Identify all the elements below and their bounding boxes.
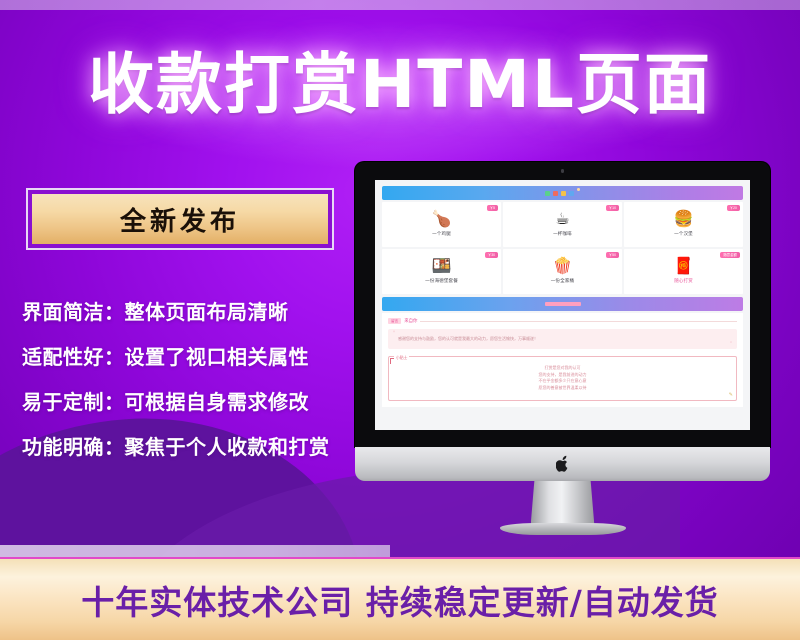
note-label: 小贴士: [394, 356, 409, 361]
sparkle-icon: [577, 188, 580, 191]
item-card[interactable]: ￥50 🍿 一份全家桶: [503, 249, 622, 294]
header-dot-red: [553, 191, 558, 196]
feature-sep: ：: [104, 431, 125, 460]
bento-icon: 🍱: [432, 259, 452, 275]
feature-value: 可根据自身需求修改: [125, 386, 310, 415]
apple-logo-icon: [556, 455, 570, 472]
feature-sep: ：: [104, 341, 125, 370]
header-dot-yellow: [561, 191, 566, 196]
item-price: ￥5: [487, 205, 498, 211]
item-card[interactable]: ￥30 🍱 一份海德堡套餐: [382, 249, 501, 294]
item-name: 一份海德堡套餐: [425, 278, 458, 284]
quote-open-mark: “: [393, 331, 395, 337]
red-envelope-icon: 🧧: [674, 259, 694, 275]
top-highlight-strip: [0, 0, 800, 10]
ribbon-decor: [545, 302, 581, 306]
message-tag-row: 留言 来自你: [388, 318, 737, 324]
shop-panel: ￥5 🍗 一个鸡腿 ￥10 ☕ 一杯咖啡 ￥20 🍔 一个汉堡: [382, 186, 743, 407]
feature-item: 适配性好 ： 设置了视口相关属性: [22, 341, 362, 370]
imac-mockup: ￥5 🍗 一个鸡腿 ￥10 ☕ 一杯咖啡 ￥20 🍔 一个汉堡: [355, 162, 770, 492]
drumstick-icon: 🍗: [432, 212, 452, 228]
monitor-foot: [500, 523, 626, 535]
popcorn-icon: 🍿: [553, 259, 573, 275]
feature-value: 设置了视口相关属性: [125, 341, 310, 370]
badge-label: 全新发布: [120, 201, 240, 238]
item-card[interactable]: ￥20 🍔 一个汉堡: [624, 202, 743, 247]
coffee-icon: ☕: [555, 212, 569, 228]
feature-list: 界面简洁 ： 整体页面布局清晰 适配性好 ： 设置了视口相关属性 易于定制 ： …: [22, 296, 362, 476]
item-name: 一份全家桶: [551, 278, 574, 284]
webcam-dot-icon: [561, 169, 565, 173]
item-price: ￥20: [727, 205, 740, 211]
item-price: ￥30: [485, 252, 498, 258]
message-pane: 留言 来自你 “ ” 感谢您的支持与鼓励，您的认可就是我最大的动力，愿您生活愉快…: [382, 313, 743, 407]
feature-value: 整体页面布局清晰: [125, 296, 289, 325]
monitor-screen: ￥5 🍗 一个鸡腿 ￥10 ☕ 一杯咖啡 ￥20 🍔 一个汉堡: [375, 180, 750, 430]
shop-header-bar: [382, 186, 743, 200]
new-release-badge: 全新发布: [26, 188, 334, 250]
feature-key: 易于定制: [22, 386, 104, 415]
item-card[interactable]: 随意金额 🧧 随心打赏: [624, 249, 743, 294]
message-tag: 留言: [388, 318, 401, 324]
burger-icon: 🍔: [674, 212, 694, 228]
quote-close-mark: ”: [730, 342, 732, 348]
poster-canvas: 收款打赏HTML页面 全新发布 界面简洁 ： 整体页面布局清晰 适配性好 ： 设…: [0, 0, 800, 640]
note-line: 愿您的善意被世界温柔以待: [395, 385, 730, 392]
item-card[interactable]: ￥5 🍗 一个鸡腿: [382, 202, 501, 247]
item-name: 一个汉堡: [674, 231, 693, 237]
feature-sep: ：: [104, 296, 125, 325]
divider: [420, 321, 737, 322]
monitor-stand: [531, 481, 595, 527]
bottom-banner: 十年实体技术公司 持续稳定更新/自动发货: [0, 559, 800, 640]
feature-sep: ：: [104, 386, 125, 415]
feature-item: 功能明确 ： 聚焦于个人收款和打赏: [22, 431, 362, 460]
feature-key: 界面简洁: [22, 296, 104, 325]
monitor-chin: [355, 447, 770, 481]
message-tag-title: 来自你: [404, 318, 417, 324]
quote-block: “ ” 感谢您的支持与鼓励，您的认可就是我最大的动力，愿您生活愉快，万事顺遂！: [388, 329, 737, 349]
badge-inner: 全新发布: [32, 194, 328, 244]
feature-item: 界面简洁 ： 整体页面布局清晰: [22, 296, 362, 325]
quote-text: 感谢您的支持与鼓励，您的认可就是我最大的动力，愿您生活愉快，万事顺遂！: [398, 336, 727, 342]
item-name: 随心打赏: [674, 278, 693, 284]
feature-value: 聚焦于个人收款和打赏: [125, 431, 330, 460]
message-header-bar: [382, 297, 743, 311]
item-price: ￥50: [606, 252, 619, 258]
feature-key: 功能明确: [22, 431, 104, 460]
note-box: 小贴士 打赏是您对我的认可 您的支持，是我前进的动力 不在乎金额多少只在意心意 …: [388, 356, 737, 401]
banner-left-strip: [0, 545, 390, 557]
item-grid: ￥5 🍗 一个鸡腿 ￥10 ☕ 一杯咖啡 ￥20 🍔 一个汉堡: [382, 202, 743, 294]
header-dot-blue: [569, 191, 574, 196]
item-price: ￥10: [606, 205, 619, 211]
pencil-icon: ✎: [729, 392, 733, 398]
header-dot-green: [545, 191, 550, 196]
item-name: 一个鸡腿: [432, 231, 451, 237]
item-name: 一杯咖啡: [553, 231, 572, 237]
monitor-bezel: ￥5 🍗 一个鸡腿 ￥10 ☕ 一杯咖啡 ￥20 🍔 一个汉堡: [355, 162, 770, 447]
feature-key: 适配性好: [22, 341, 104, 370]
page-title: 收款打赏HTML页面: [0, 50, 800, 120]
banner-label: 十年实体技术公司 持续稳定更新/自动发货: [81, 576, 719, 624]
feature-item: 易于定制 ： 可根据自身需求修改: [22, 386, 362, 415]
item-card[interactable]: ￥10 ☕ 一杯咖啡: [503, 202, 622, 247]
item-price: 随意金额: [720, 252, 740, 258]
